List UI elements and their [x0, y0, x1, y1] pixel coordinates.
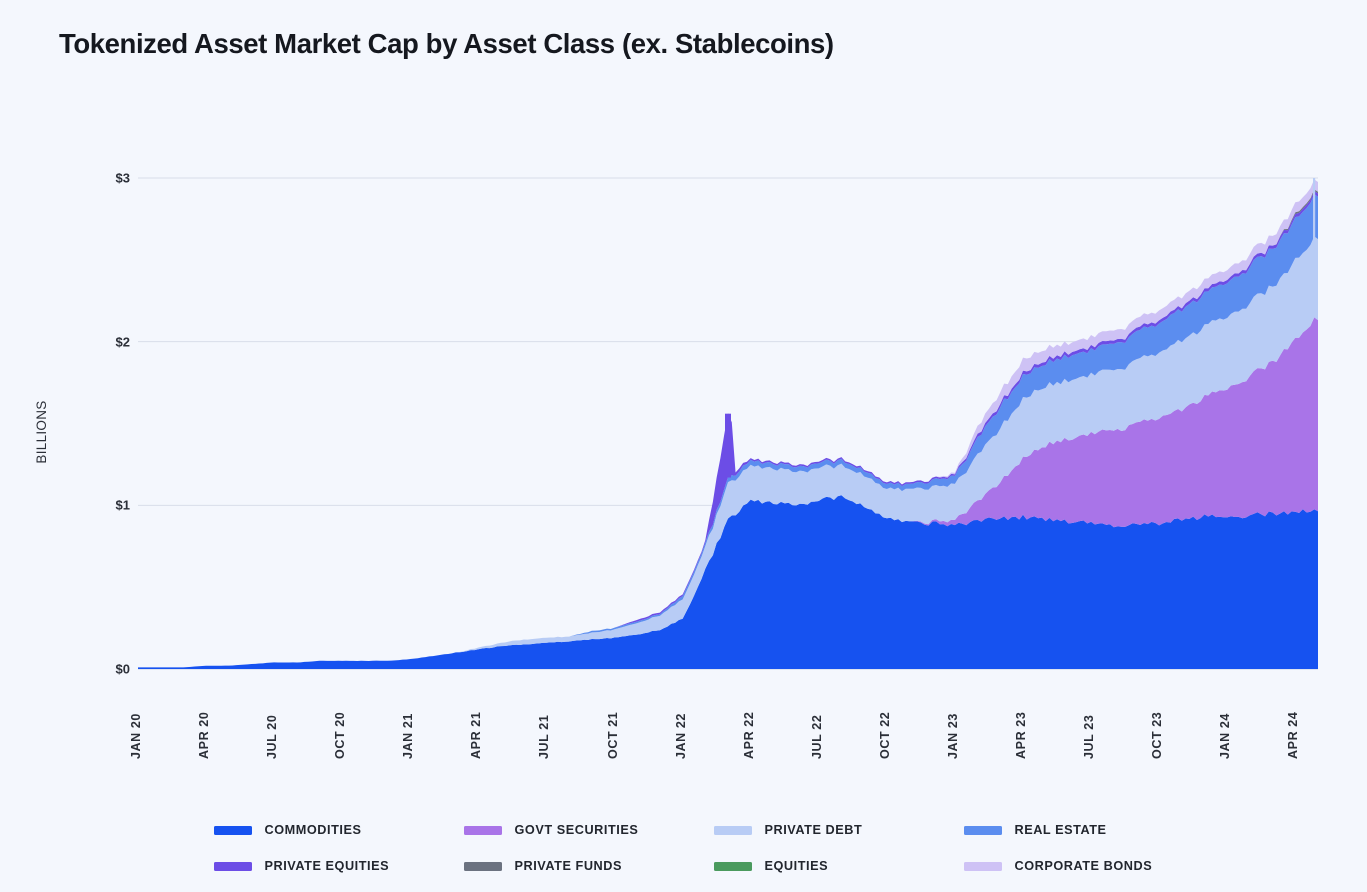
y-axis-tick-label: $3: [86, 171, 130, 186]
legend-item-private-debt[interactable]: PRIVATE DEBT: [714, 812, 964, 848]
legend-item-label: PRIVATE DEBT: [765, 823, 863, 837]
x-axis-tick-label: APR 20: [197, 712, 211, 759]
x-axis-tick-label: APR 21: [469, 712, 483, 759]
spike-private-equities-2022-03: [725, 414, 731, 478]
legend-swatch-icon: [464, 862, 502, 871]
legend-swatch-icon: [214, 862, 252, 871]
legend-item-commodities[interactable]: COMMODITIES: [214, 812, 464, 848]
x-axis-tick-label: JUL 23: [1082, 715, 1096, 759]
x-axis-tick-label: JAN 21: [401, 713, 415, 759]
x-axis-tick-label: APR 23: [1014, 712, 1028, 759]
y-axis-title: BILLIONS: [34, 382, 49, 482]
x-axis-tick-label: OCT 22: [878, 712, 892, 759]
x-axis-tick-label: JUL 20: [265, 715, 279, 759]
legend-item-private-equities[interactable]: PRIVATE EQUITIES: [214, 848, 464, 884]
x-axis-tick-label: OCT 23: [1150, 712, 1164, 759]
x-axis-ticks: JAN 20APR 20JUL 20OCT 20JAN 21APR 21JUL …: [0, 679, 1367, 759]
x-axis-tick-label: JUL 22: [810, 715, 824, 759]
legend-swatch-icon: [214, 826, 252, 835]
legend-item-label: EQUITIES: [765, 859, 829, 873]
y-axis-tick-label: $0: [86, 662, 130, 677]
legend-item-real-estate[interactable]: REAL ESTATE: [964, 812, 1214, 848]
legend-item-label: CORPORATE BONDS: [1015, 859, 1153, 873]
legend-swatch-icon: [964, 826, 1002, 835]
legend-swatch-icon: [714, 826, 752, 835]
legend-item-label: PRIVATE EQUITIES: [265, 859, 390, 873]
legend-item-govt-securities[interactable]: GOVT SECURITIES: [464, 812, 714, 848]
spike-final-period: [1313, 178, 1315, 276]
x-axis-tick-label: OCT 20: [333, 712, 347, 759]
x-axis-tick-label: OCT 21: [606, 712, 620, 759]
x-axis-tick-label: JAN 22: [674, 713, 688, 759]
legend-item-label: COMMODITIES: [265, 823, 362, 837]
legend-swatch-icon: [714, 862, 752, 871]
legend-item-label: REAL ESTATE: [1015, 823, 1107, 837]
x-axis-tick-label: JAN 24: [1218, 713, 1232, 759]
chart-legend: COMMODITIESGOVT SECURITIESPRIVATE DEBTRE…: [0, 812, 1367, 884]
x-axis-tick-label: APR 24: [1286, 712, 1300, 759]
x-axis-tick-label: JAN 23: [946, 713, 960, 759]
x-axis-tick-label: JUL 21: [537, 715, 551, 759]
legend-item-equities[interactable]: EQUITIES: [714, 848, 964, 884]
legend-swatch-icon: [964, 862, 1002, 871]
legend-item-label: PRIVATE FUNDS: [515, 859, 622, 873]
legend-item-private-funds[interactable]: PRIVATE FUNDS: [464, 848, 714, 884]
x-axis-tick-label: JAN 20: [129, 713, 143, 759]
y-axis-tick-label: $2: [86, 334, 130, 349]
legend-item-corporate-bonds[interactable]: CORPORATE BONDS: [964, 848, 1214, 884]
legend-item-label: GOVT SECURITIES: [515, 823, 639, 837]
y-axis-tick-label: $1: [86, 498, 130, 513]
x-axis-tick-label: APR 22: [742, 712, 756, 759]
legend-swatch-icon: [464, 826, 502, 835]
